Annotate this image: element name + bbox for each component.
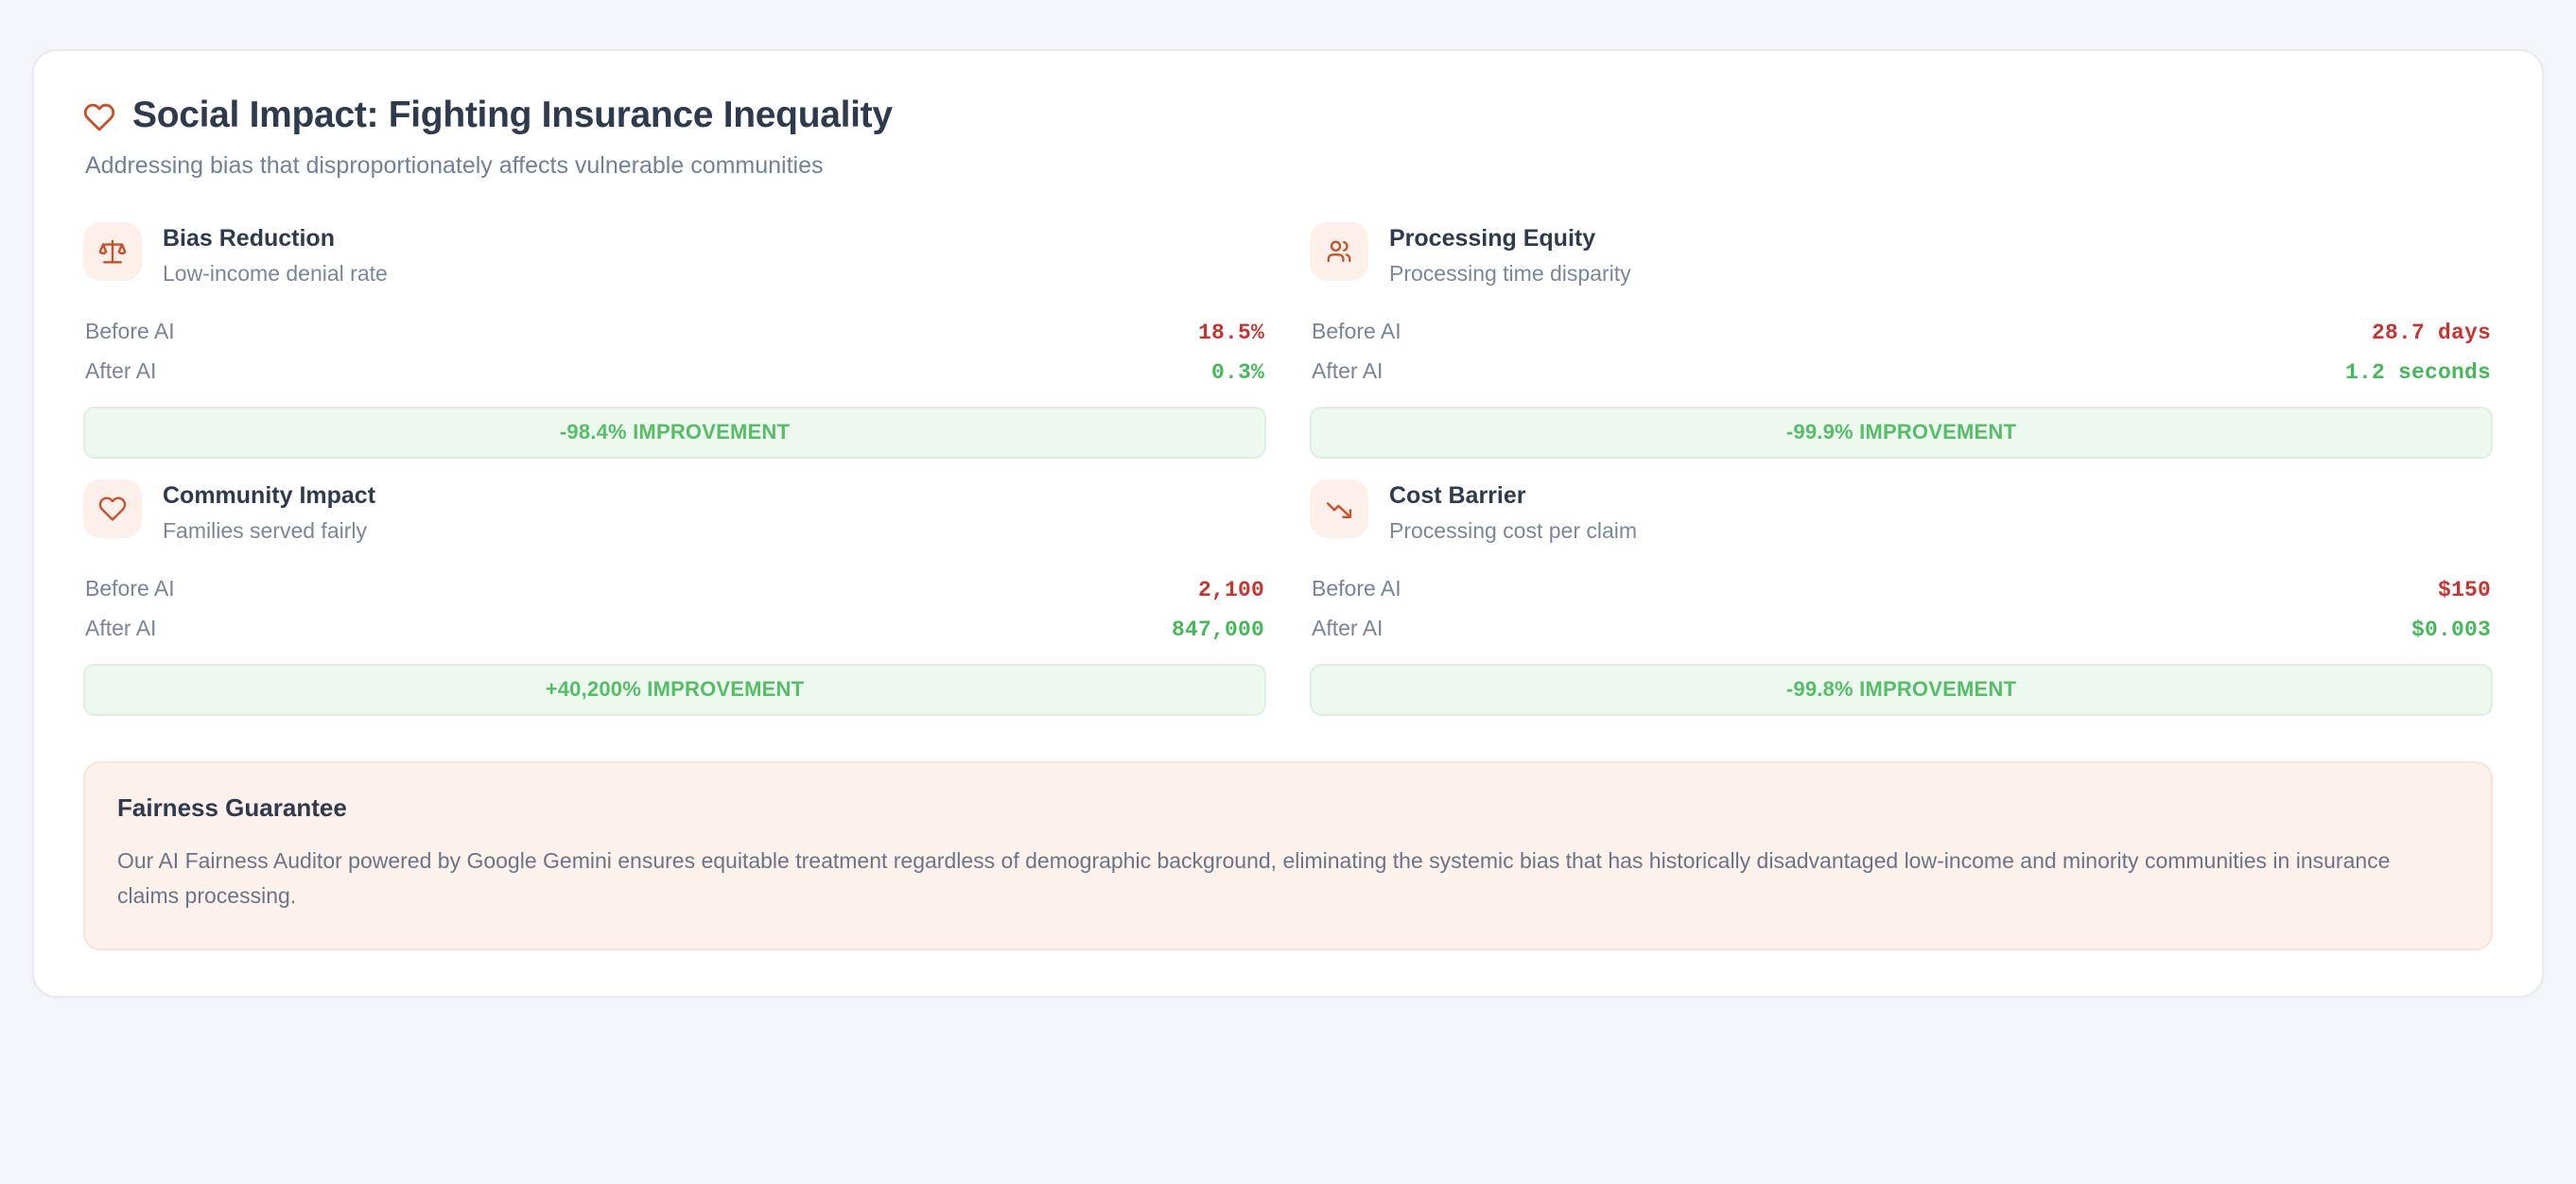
after-value: 0.3%: [1211, 360, 1264, 385]
after-value: 847,000: [1172, 618, 1264, 642]
metric-row-before: Before AI $150: [1310, 569, 2493, 609]
improvement-badge: -99.8% IMPROVEMENT: [1310, 664, 2493, 716]
fairness-title: Fairness Guarantee: [117, 793, 2459, 823]
metric-name: Bias Reduction: [163, 224, 388, 252]
metric-row-before: Before AI 2,100: [83, 569, 1266, 609]
social-impact-panel: Social Impact: Fighting Insurance Inequa…: [32, 49, 2544, 998]
trending-down-icon: [1325, 495, 1353, 523]
metric-icon-container: [83, 479, 142, 538]
before-value: $150: [2438, 578, 2491, 602]
after-value: 1.2 seconds: [2345, 360, 2491, 385]
before-label: Before AI: [85, 319, 175, 344]
improvement-badge: -98.4% IMPROVEMENT: [83, 407, 1266, 459]
metrics-grid: Bias Reduction Low-income denial rate Be…: [83, 222, 2493, 716]
before-value: 2,100: [1198, 578, 1264, 602]
fairness-guarantee-box: Fairness Guarantee Our AI Fairness Audit…: [83, 761, 2493, 950]
improvement-badge: -99.9% IMPROVEMENT: [1310, 407, 2493, 459]
metric-rows: Before AI 18.5% After AI 0.3%: [83, 312, 1266, 392]
before-value: 28.7 days: [2372, 321, 2491, 345]
metric-icon-container: [1310, 222, 1368, 281]
metric-description: Low-income denial rate: [163, 260, 388, 287]
users-icon: [1325, 237, 1353, 266]
metric-header: Bias Reduction Low-income denial rate: [83, 222, 1266, 287]
metric-card-cost-barrier: Cost Barrier Processing cost per claim B…: [1310, 479, 2493, 716]
before-label: Before AI: [1312, 319, 1401, 344]
page-root: Social Impact: Fighting Insurance Inequa…: [0, 0, 2576, 1184]
after-label: After AI: [1312, 616, 1383, 641]
metric-name: Processing Equity: [1389, 224, 1631, 252]
before-label: Before AI: [1312, 576, 1401, 601]
before-value: 18.5%: [1198, 321, 1264, 345]
metric-name: Cost Barrier: [1389, 481, 1637, 510]
scales-icon: [98, 237, 127, 266]
title-row: Social Impact: Fighting Insurance Inequa…: [83, 95, 2493, 137]
metric-titles: Bias Reduction Low-income denial rate: [163, 222, 388, 287]
after-value: $0.003: [2411, 618, 2491, 642]
metric-titles: Cost Barrier Processing cost per claim: [1389, 479, 1637, 545]
metric-header: Processing Equity Processing time dispar…: [1310, 222, 2493, 287]
before-label: Before AI: [85, 576, 175, 601]
metric-header: Community Impact Families served fairly: [83, 479, 1266, 545]
metric-description: Processing time disparity: [1389, 260, 1631, 287]
panel-header: Social Impact: Fighting Insurance Inequa…: [83, 95, 2493, 181]
metric-description: Processing cost per claim: [1389, 517, 1637, 545]
metric-header: Cost Barrier Processing cost per claim: [1310, 479, 2493, 545]
metric-titles: Processing Equity Processing time dispar…: [1389, 222, 1631, 287]
heart-icon: [98, 495, 127, 523]
metric-row-after: After AI $0.003: [1310, 609, 2493, 649]
metric-icon-container: [83, 222, 142, 281]
metric-rows: Before AI 2,100 After AI 847,000: [83, 569, 1266, 649]
metric-name: Community Impact: [163, 481, 375, 510]
metric-row-after: After AI 0.3%: [83, 352, 1266, 392]
metric-row-after: After AI 847,000: [83, 609, 1266, 649]
metric-rows: Before AI 28.7 days After AI 1.2 seconds: [1310, 312, 2493, 392]
metric-card-bias-reduction: Bias Reduction Low-income denial rate Be…: [83, 222, 1266, 459]
panel-subtitle: Addressing bias that disproportionately …: [85, 150, 2493, 182]
heart-icon: [83, 101, 115, 133]
after-label: After AI: [85, 616, 156, 641]
metric-description: Families served fairly: [163, 517, 375, 545]
page-title: Social Impact: Fighting Insurance Inequa…: [132, 95, 893, 137]
after-label: After AI: [85, 358, 156, 384]
metric-icon-container: [1310, 479, 1368, 538]
metric-row-after: After AI 1.2 seconds: [1310, 352, 2493, 392]
metric-card-community-impact: Community Impact Families served fairly …: [83, 479, 1266, 716]
metric-card-processing-equity: Processing Equity Processing time dispar…: [1310, 222, 2493, 459]
fairness-text: Our AI Fairness Auditor powered by Googl…: [117, 844, 2415, 914]
metric-row-before: Before AI 28.7 days: [1310, 312, 2493, 352]
metric-rows: Before AI $150 After AI $0.003: [1310, 569, 2493, 649]
after-label: After AI: [1312, 358, 1383, 384]
metric-titles: Community Impact Families served fairly: [163, 479, 375, 545]
improvement-badge: +40,200% IMPROVEMENT: [83, 664, 1266, 716]
metric-row-before: Before AI 18.5%: [83, 312, 1266, 352]
